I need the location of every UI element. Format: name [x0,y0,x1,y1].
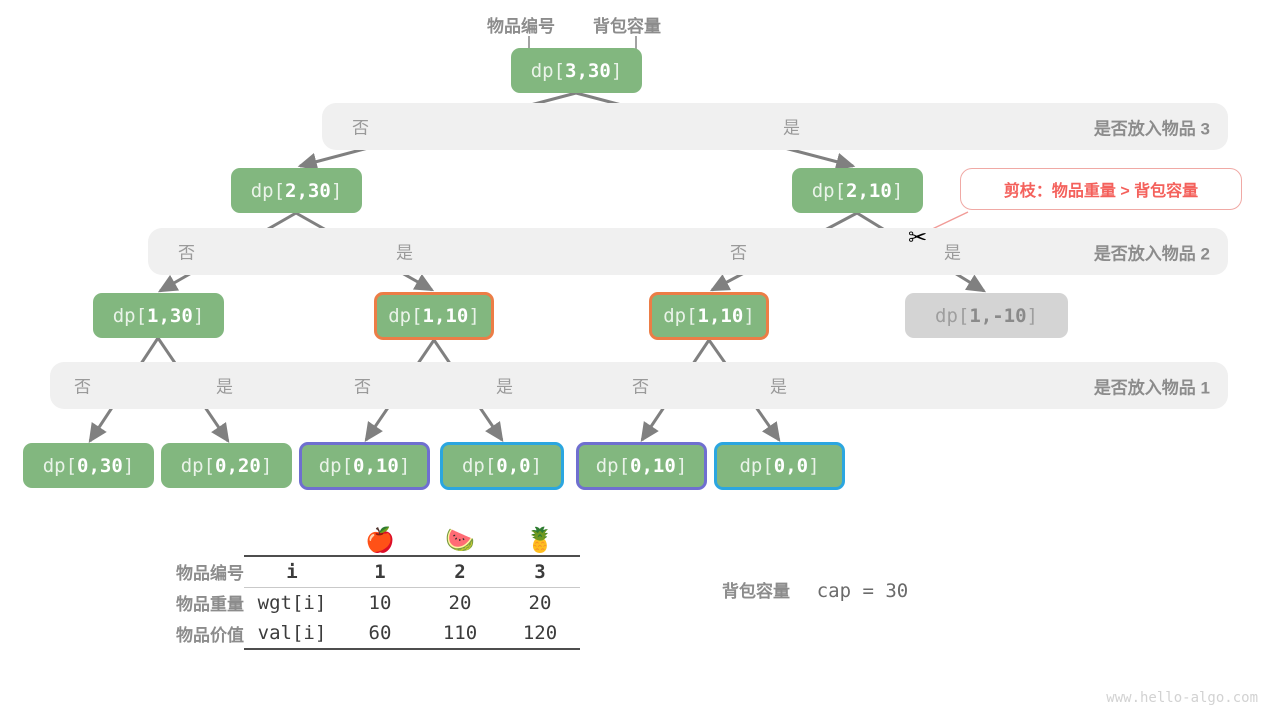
cell-index-2: 2 [420,556,500,587]
scissors-icon: ✂ [908,226,927,249]
node-prefix: dp[ [319,455,353,477]
branch-label-yes: 是 [496,373,513,398]
level-title-1: 是否放入物品 1 [1094,373,1210,398]
spacer-cell [244,524,340,556]
node-prefix: dp[ [739,455,773,477]
diagram-canvas: 物品编号 背包容量 是否放入物品 3 否 是 是否放入物品 2 否 是 否 是 … [0,0,1280,720]
node-suffix: ] [611,60,622,82]
branch-label-yes: 是 [944,239,961,264]
cell-index-1: 1 [340,556,420,587]
node-prefix: dp[ [596,455,630,477]
table-row-index: 物品编号 i 1 2 3 [176,556,580,587]
node-prefix: dp[ [462,455,496,477]
branch-label-yes: 是 [770,373,787,398]
branch-label-yes: 是 [783,114,800,139]
capacity-note: 背包容量 cap = 30 [722,577,908,602]
annotation-bag-capacity: 背包容量 [593,12,661,37]
tree-node-dp-0-0-first[interactable]: dp[0,0] [440,442,564,490]
tree-node-dp-0-10-first[interactable]: dp[0,10] [299,442,430,490]
tree-node-dp-2-30[interactable]: dp[2,30] [231,168,362,213]
level-title-3: 是否放入物品 3 [1094,114,1210,139]
node-key: 0,30 [77,455,123,477]
branch-label-no: 否 [352,114,369,139]
node-key: 3,30 [565,60,611,82]
items-table-wrap: 🍎 🍉 🍍 物品编号 i 1 2 3 物品重量 wgt[i] 10 20 20 … [176,524,580,650]
capacity-label: 背包容量 [722,582,790,601]
tree-node-dp-2-10[interactable]: dp[2,10] [792,168,923,213]
node-key: 1,-10 [969,305,1026,327]
node-prefix: dp[ [663,305,697,327]
tree-node-dp-3-30[interactable]: dp[3,30] [511,48,642,93]
node-prefix: dp[ [812,180,846,202]
level-band-2: 是否放入物品 2 [148,228,1228,275]
tree-node-dp-0-20[interactable]: dp[0,20] [161,443,292,488]
node-suffix: ] [808,455,819,477]
node-prefix: dp[ [43,455,77,477]
node-key: 2,30 [285,180,331,202]
node-suffix: ] [1027,305,1038,327]
table-row-value: 物品价值 val[i] 60 110 120 [176,618,580,649]
items-table: 🍎 🍉 🍍 物品编号 i 1 2 3 物品重量 wgt[i] 10 20 20 … [176,524,580,650]
node-suffix: ] [743,305,754,327]
node-prefix: dp[ [531,60,565,82]
row-key-i: i [244,556,340,587]
cell-value-3: 120 [500,618,580,649]
node-suffix: ] [399,455,410,477]
fruit-apple-icon: 🍎 [340,524,420,556]
capacity-value: cap = 30 [817,580,909,602]
tree-node-dp-1-10-second[interactable]: dp[1,10] [649,292,769,340]
row-key-wgt: wgt[i] [244,587,340,618]
node-prefix: dp[ [181,455,215,477]
cell-index-3: 3 [500,556,580,587]
table-row-icons: 🍎 🍉 🍍 [176,524,580,556]
node-key: 2,10 [846,180,892,202]
node-key: 1,10 [698,305,744,327]
tree-node-dp-1-30[interactable]: dp[1,30] [93,293,224,338]
node-key: 0,0 [496,455,530,477]
tree-node-dp-1-neg10-pruned[interactable]: dp[1,-10] [905,293,1068,338]
level-band-3: 是否放入物品 3 [322,103,1228,150]
branch-label-no: 否 [354,373,371,398]
branch-label-yes: 是 [396,239,413,264]
node-key: 0,20 [215,455,261,477]
node-suffix: ] [531,455,542,477]
node-prefix: dp[ [388,305,422,327]
node-suffix: ] [892,180,903,202]
row-label-item-index: 物品编号 [176,556,244,587]
fruit-watermelon-icon: 🍉 [420,524,500,556]
cell-value-1: 60 [340,618,420,649]
cell-weight-3: 20 [500,587,580,618]
branch-label-no: 否 [178,239,195,264]
annotation-item-index: 物品编号 [487,12,555,37]
node-key: 1,10 [423,305,469,327]
table-row-weight: 物品重量 wgt[i] 10 20 20 [176,587,580,618]
tree-node-dp-1-10-first[interactable]: dp[1,10] [374,292,494,340]
prune-callout: 剪枝：物品重量 > 背包容量 [960,168,1242,210]
node-suffix: ] [193,305,204,327]
branch-label-no: 否 [74,373,91,398]
node-prefix: dp[ [935,305,969,327]
node-suffix: ] [331,180,342,202]
row-label-item-weight: 物品重量 [176,587,244,618]
row-key-val: val[i] [244,618,340,649]
row-label-item-value: 物品价值 [176,618,244,649]
spacer-cell [176,524,244,556]
node-key: 0,0 [774,455,808,477]
branch-label-no: 否 [632,373,649,398]
tree-node-dp-0-10-second[interactable]: dp[0,10] [576,442,707,490]
watermark: www.hello-algo.com [1106,690,1258,706]
node-prefix: dp[ [113,305,147,327]
node-key: 0,10 [353,455,399,477]
node-prefix: dp[ [251,180,285,202]
node-suffix: ] [676,455,687,477]
node-suffix: ] [468,305,479,327]
node-suffix: ] [261,455,272,477]
cell-value-2: 110 [420,618,500,649]
node-suffix: ] [123,455,134,477]
cell-weight-2: 20 [420,587,500,618]
branch-label-no: 否 [730,239,747,264]
cell-weight-1: 10 [340,587,420,618]
tree-node-dp-0-30[interactable]: dp[0,30] [23,443,154,488]
node-key: 0,10 [630,455,676,477]
branch-label-yes: 是 [216,373,233,398]
fruit-pineapple-icon: 🍍 [500,524,580,556]
node-key: 1,30 [147,305,193,327]
level-title-2: 是否放入物品 2 [1094,239,1210,264]
tree-node-dp-0-0-second[interactable]: dp[0,0] [714,442,845,490]
